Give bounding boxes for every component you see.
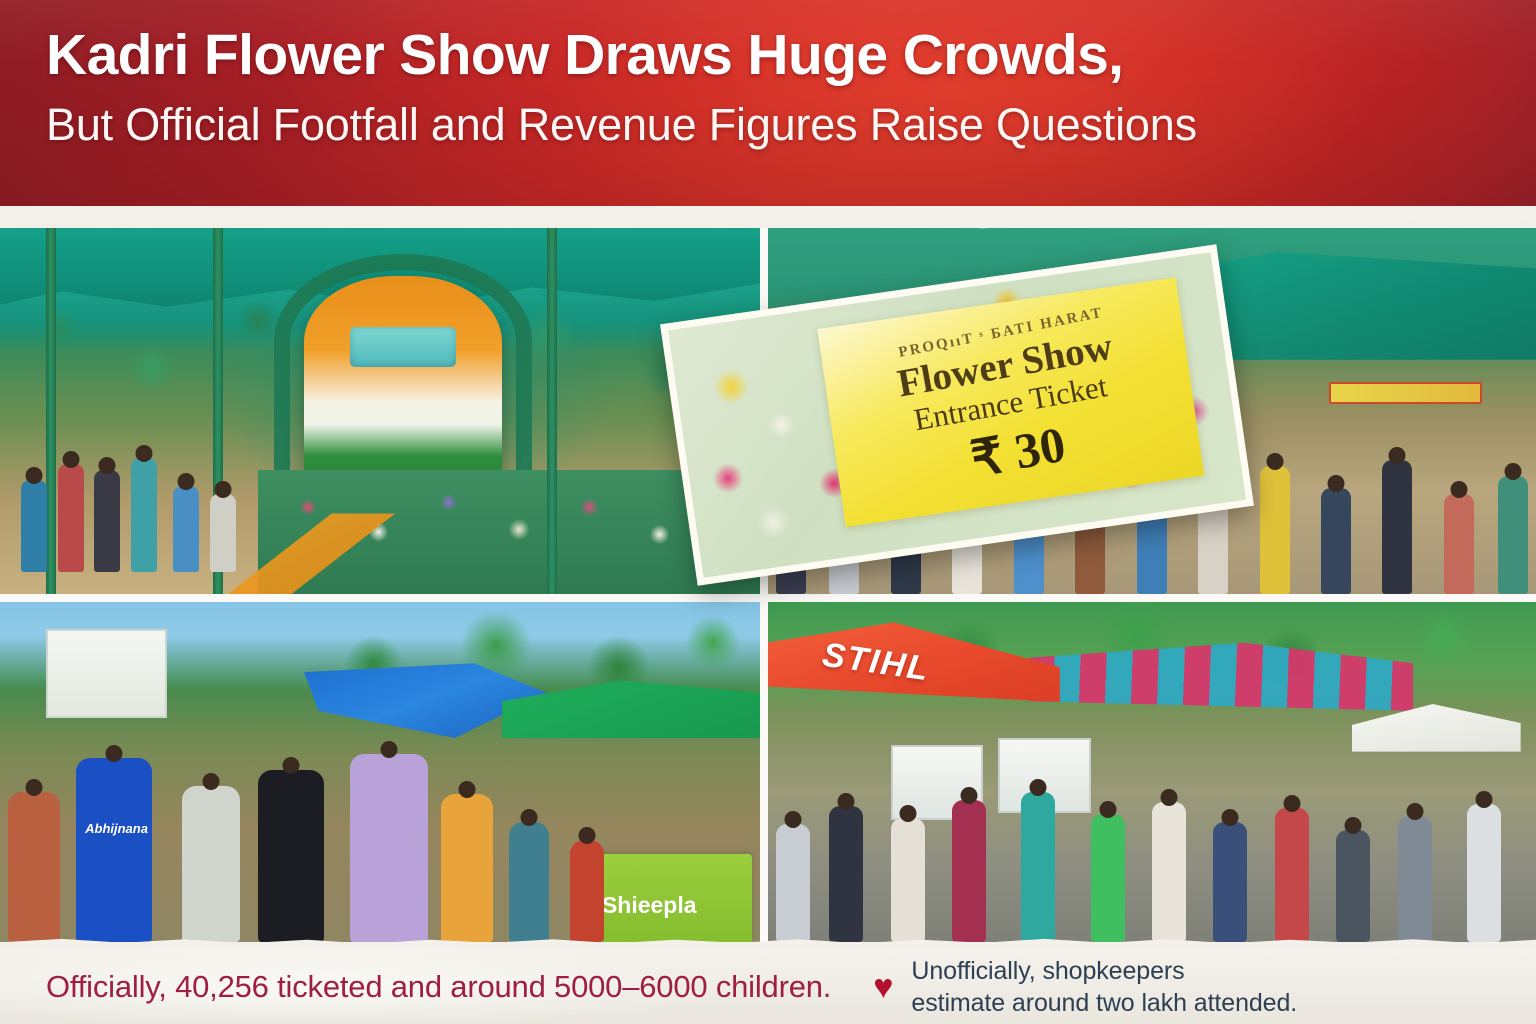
unofficial-figures-text: Unofficially, shopkeepers estimate aroun… (911, 955, 1297, 1019)
visitor-figure (441, 794, 493, 942)
visitor-figure (952, 800, 986, 942)
visitor-crowd (15, 396, 319, 572)
person-head-icon (784, 811, 801, 828)
visitor-figure (1382, 460, 1412, 594)
photo-bottom-right: STIHL (768, 602, 1536, 942)
visitor-figure (1336, 830, 1370, 942)
person-head-icon (1222, 809, 1239, 826)
person-head-icon (214, 481, 231, 498)
person-head-icon (1099, 801, 1116, 818)
person-head-icon (1450, 481, 1467, 498)
person-head-icon (1266, 453, 1283, 470)
person-head-icon (961, 787, 978, 804)
caption-band: Officially, 40,256 ticketed and around 5… (0, 950, 1536, 1024)
tent-pole (547, 228, 557, 594)
floral-train-model (304, 276, 502, 496)
collage-gutter-horizontal (0, 594, 1536, 602)
shop-signboard (1329, 382, 1483, 404)
visitor-figure (350, 754, 428, 942)
visitor-figure (1213, 822, 1247, 942)
person-head-icon (1504, 463, 1521, 480)
visitor-figure (1444, 494, 1474, 594)
heart-icon: ♥ (873, 970, 893, 1004)
visitor-figure (182, 786, 240, 942)
person-head-icon (1475, 791, 1492, 808)
official-figures-text: Officially, 40,256 ticketed and around 5… (0, 970, 831, 1004)
photo-bottom-left: Shieepla Abhijnana (0, 602, 760, 942)
visitor-figure (1260, 466, 1290, 594)
person-head-icon (106, 745, 123, 762)
visitor-crowd (768, 752, 1536, 942)
person-head-icon (26, 467, 43, 484)
person-head-icon (1327, 475, 1344, 492)
visitor-figure (131, 458, 157, 572)
abhijnana-shirt-label: Abhijnana (85, 821, 148, 836)
person-head-icon (178, 473, 195, 490)
person-head-icon (458, 781, 475, 798)
person-head-icon (62, 451, 79, 468)
visitor-figure (1321, 488, 1351, 594)
visitor-figure-abhijnana-shirt: Abhijnana (76, 758, 152, 942)
person-head-icon (25, 779, 42, 796)
person-head-icon (380, 741, 397, 758)
person-head-icon (521, 809, 538, 826)
unofficial-line-2: estimate around two lakh attended. (911, 987, 1297, 1019)
person-head-icon (1283, 795, 1300, 812)
visitor-figure (1398, 816, 1432, 942)
person-head-icon (99, 457, 116, 474)
visitor-figure (58, 464, 84, 572)
visitor-figure (1275, 808, 1309, 942)
stihl-stall-scene: STIHL (768, 602, 1536, 942)
visitor-figure (94, 470, 120, 572)
person-head-icon (1161, 789, 1178, 806)
person-head-icon (283, 757, 300, 774)
person-head-icon (899, 805, 916, 822)
visitor-figure (891, 818, 925, 942)
train-window (350, 327, 456, 367)
person-head-icon (1389, 447, 1406, 464)
visitor-figure (258, 770, 324, 942)
visitor-figure (210, 494, 236, 572)
visitor-figure (1091, 814, 1125, 942)
person-head-icon (579, 827, 596, 844)
visitor-figure (8, 792, 60, 942)
visitor-figure (1498, 476, 1528, 594)
visitor-figure (21, 480, 47, 572)
stall-signboard (46, 629, 168, 717)
visitor-figure (829, 806, 863, 942)
visitor-figure (1021, 792, 1055, 942)
person-head-icon (1406, 803, 1423, 820)
floral-train-scene (0, 228, 760, 594)
visitor-figure (570, 840, 604, 942)
stall-aisle-scene: Shieepla Abhijnana (0, 602, 760, 942)
visitor-figure (509, 822, 549, 942)
person-head-icon (1030, 779, 1047, 796)
visitor-figure (776, 824, 810, 942)
person-head-icon (838, 793, 855, 810)
person-head-icon (203, 773, 220, 790)
page-title: Kadri Flower Show Draws Huge Crowds, (46, 26, 1490, 85)
person-head-icon (135, 445, 152, 462)
ticket-text-panel: PROQııT ˢ БATI HARAT Flower Show Entranc… (817, 277, 1204, 527)
visitor-crowd: Abhijnana (0, 731, 760, 942)
visitor-figure (173, 486, 199, 572)
unofficial-line-1: Unofficially, shopkeepers (911, 955, 1297, 987)
header-text-block: Kadri Flower Show Draws Huge Crowds, But… (0, 0, 1536, 149)
visitor-figure (1467, 804, 1501, 942)
header-banner: Kadri Flower Show Draws Huge Crowds, But… (0, 0, 1536, 214)
person-head-icon (1345, 817, 1362, 834)
visitor-figure (1152, 802, 1186, 942)
photo-top-left (0, 228, 760, 594)
page-subtitle: But Official Footfall and Revenue Figure… (46, 101, 1490, 149)
